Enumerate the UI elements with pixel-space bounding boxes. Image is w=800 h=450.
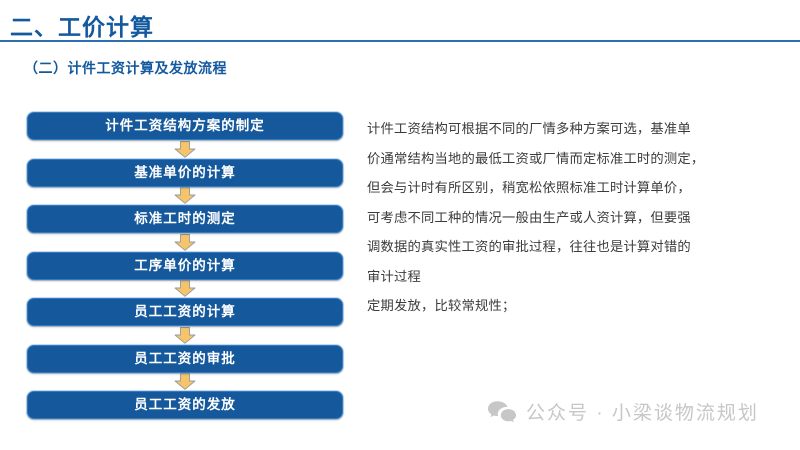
watermark: 公众号 · 小梁谈物流规划	[487, 398, 759, 425]
flow-box-base-unit-price-calculation: 基准单价的计算	[27, 159, 343, 187]
paragraph-line: 可考虑不同工种的情况一般由生产或人资计算，但要强	[367, 203, 777, 233]
flow-step-5: 员工工资的计算	[27, 298, 343, 326]
arrow-down-icon	[174, 141, 196, 158]
arrow-down-icon	[174, 187, 196, 204]
flow-arrow-4	[27, 280, 343, 299]
flow-arrow-6	[27, 373, 343, 392]
arrow-down-icon	[174, 280, 196, 297]
flow-box-employee-wage-approval: 员工工资的审批	[27, 345, 343, 373]
page-title: 二、工价计算	[10, 8, 154, 42]
paragraph-line: 审计过程	[367, 262, 777, 292]
flow-box-label: 基准单价的计算	[134, 166, 236, 180]
flow-box-label: 员工工资的计算	[134, 305, 236, 319]
flow-box-employee-wage-calculation: 员工工资的计算	[27, 298, 343, 326]
flow-arrow-2	[27, 187, 343, 206]
flow-box-label: 工序单价的计算	[134, 259, 236, 273]
arrow-down-icon	[174, 234, 196, 251]
flow-box-label: 标准工时的测定	[134, 212, 236, 226]
title-divider	[0, 40, 800, 42]
flow-box-label: 计件工资结构方案的制定	[105, 119, 265, 133]
description-paragraph: 计件工资结构可根据不同的厂情多种方案可选，基准单 价通常结构当地的最低工资或厂情…	[367, 114, 777, 321]
flow-step-1: 计件工资结构方案的制定	[27, 112, 343, 140]
flow-step-3: 标准工时的测定	[27, 205, 343, 233]
wechat-icon	[487, 399, 517, 424]
watermark-label: 公众号 · 小梁谈物流规划	[526, 398, 759, 425]
paragraph-line: 价通常结构当地的最低工资或厂情而定标准工时的测定，	[367, 144, 777, 174]
flow-box-label: 员工工资的审批	[134, 352, 236, 366]
paragraph-line: 但会与计时有所区别，稍宽松依照标准工时计算单价，	[367, 173, 777, 203]
flow-step-7: 员工工资的发放	[27, 391, 343, 419]
flow-arrow-3	[27, 233, 343, 252]
paragraph-line: 定期发放，比较常规性；	[367, 291, 777, 321]
flow-arrow-1	[27, 140, 343, 159]
flow-box-standard-work-hours-measurement: 标准工时的测定	[27, 205, 343, 233]
section-subtitle: （二）计件工资计算及发放流程	[24, 58, 227, 78]
flow-step-6: 员工工资的审批	[27, 345, 343, 373]
paragraph-line: 计件工资结构可根据不同的厂情多种方案可选，基准单	[367, 114, 777, 144]
arrow-down-icon	[174, 373, 196, 390]
paragraph-line: 调数据的真实性工资的审批过程，往往也是计算对错的	[367, 232, 777, 262]
flow-step-2: 基准单价的计算	[27, 159, 343, 187]
arrow-down-icon	[174, 327, 196, 344]
flow-box-process-unit-price-calculation: 工序单价的计算	[27, 252, 343, 280]
process-flowchart: 计件工资结构方案的制定 基准单价的计算 标准工时的测定 工序单价的计算	[27, 112, 343, 419]
flow-arrow-5	[27, 326, 343, 345]
flow-box-employee-wage-payment: 员工工资的发放	[27, 391, 343, 419]
flow-box-label: 员工工资的发放	[134, 398, 236, 412]
flow-step-4: 工序单价的计算	[27, 252, 343, 280]
flow-box-piece-rate-structure-plan: 计件工资结构方案的制定	[27, 112, 343, 140]
